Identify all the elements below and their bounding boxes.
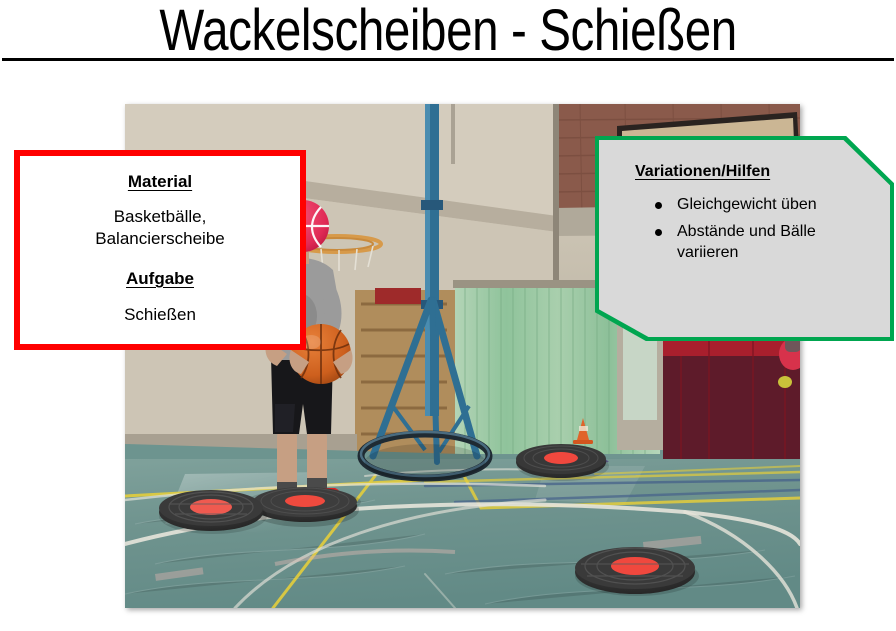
balance-disc-under-player <box>251 487 359 527</box>
material-heading: Material <box>128 172 192 192</box>
task-body: Schießen <box>124 304 196 326</box>
list-item: Gleichgewicht üben <box>655 195 835 216</box>
task-heading: Aufgabe <box>126 269 194 289</box>
list-item-label: Gleichgewicht üben <box>677 196 817 213</box>
slide-root: Wackelscheiben - Schießen <box>0 0 896 631</box>
bullet-icon <box>655 202 662 209</box>
material-callout-box: Material Basketbälle, Balancierscheibe A… <box>14 150 306 350</box>
list-item: Abstände und Bälle variieren <box>655 222 835 264</box>
balance-disc-bottom-right <box>575 547 699 596</box>
material-body: Basketbälle, Balancierscheibe <box>95 206 224 250</box>
list-item-label: Abstände und Bälle variieren <box>677 223 816 261</box>
balance-disc-middle-right <box>516 444 609 481</box>
variations-heading: Variationen/Hilfen <box>635 162 876 181</box>
material-line-2: Balancierscheibe <box>95 228 224 250</box>
bullet-icon <box>655 229 662 236</box>
balance-disc-left <box>159 490 267 534</box>
page-title-text: Wackelscheiben - Schießen <box>159 2 736 60</box>
page-title: Wackelscheiben - Schießen <box>0 0 896 62</box>
material-line-1: Basketbälle, <box>95 206 224 228</box>
variations-callout-box: Variationen/Hilfen Gleichgewicht üben Ab… <box>595 136 894 341</box>
variations-box-content: Variationen/Hilfen Gleichgewicht üben Ab… <box>599 140 890 337</box>
title-underline-rule <box>2 58 894 61</box>
variations-list: Gleichgewicht üben Abstände und Bälle va… <box>655 195 876 263</box>
